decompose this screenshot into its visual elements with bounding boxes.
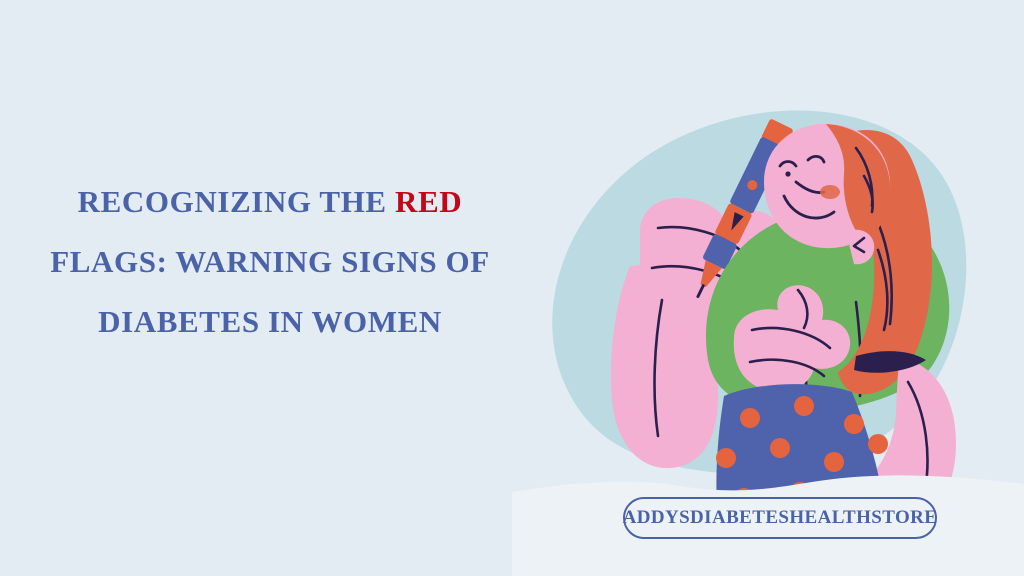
- headline-line-2: FLAGS: WARNING SIGNS OF: [0, 246, 540, 277]
- headline-line-1-text: RECOGNIZING THE: [78, 184, 395, 219]
- headline-line-3: DIABETES IN WOMEN: [0, 306, 540, 337]
- brand-badge[interactable]: ADDYSDIABETESHEALTHSTORE: [623, 497, 937, 539]
- illustration-woman-using-insulin-pen: [512, 0, 1024, 576]
- page-title: RECOGNIZING THE RED FLAGS: WARNING SIGNS…: [0, 186, 540, 337]
- brand-badge-label: ADDYSDIABETESHEALTHSTORE: [623, 507, 938, 529]
- headline-line-1: RECOGNIZING THE RED: [0, 186, 540, 217]
- headline-accent-red: RED: [395, 184, 462, 219]
- banner: RECOGNIZING THE RED FLAGS: WARNING SIGNS…: [0, 0, 1024, 576]
- eye-left-pupil: [785, 171, 790, 176]
- cheek-blush: [820, 185, 840, 199]
